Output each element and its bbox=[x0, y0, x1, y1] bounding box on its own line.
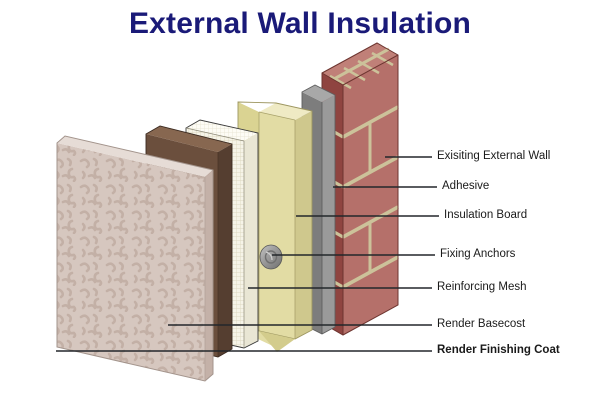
callout-label-6: Render Finishing Coat bbox=[437, 344, 560, 357]
callout-label-5: Render Basecost bbox=[437, 318, 525, 331]
callout-label-4: Reinforcing Mesh bbox=[437, 281, 526, 294]
callout-label-0: Exisiting External Wall bbox=[437, 150, 550, 163]
diagram-canvas: External Wall Insulation bbox=[0, 0, 600, 400]
layer-render-finishing-coat bbox=[57, 136, 213, 381]
callout-label-3: Fixing Anchors bbox=[440, 248, 515, 261]
exploded-wall-assembly-diagram bbox=[0, 0, 600, 400]
callout-label-1: Adhesive bbox=[442, 180, 489, 193]
callout-label-2: Insulation Board bbox=[444, 209, 527, 222]
fixing-anchor bbox=[260, 245, 282, 269]
